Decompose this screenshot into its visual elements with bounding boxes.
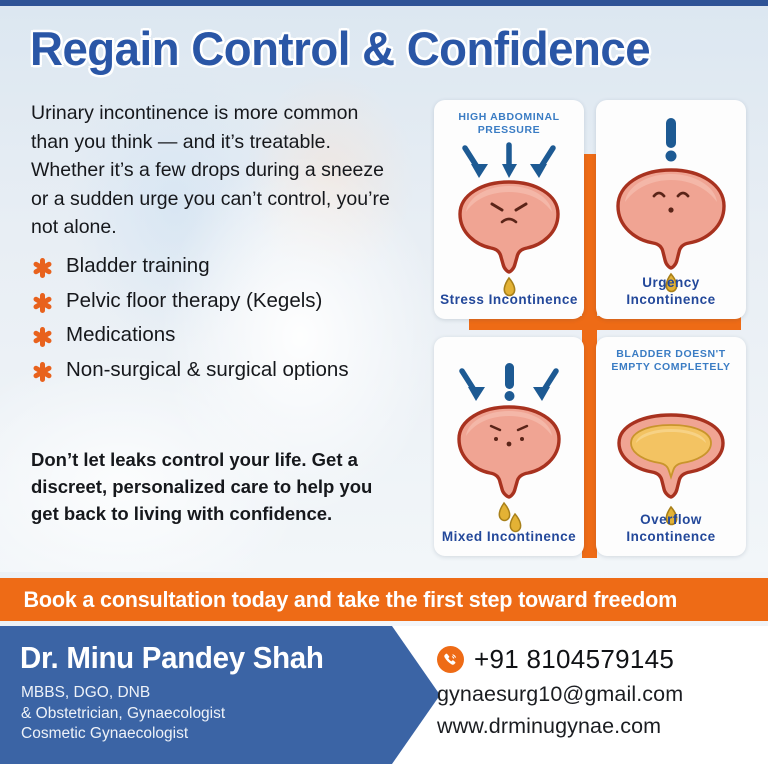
email-address[interactable]: gynaesurg10@gmail.com: [437, 678, 683, 710]
outro-paragraph: Don’t let leaks control your life. Get a…: [31, 446, 381, 527]
list-item: Non-surgical & surgical options: [31, 356, 431, 384]
list-item: Pelvic floor therapy (Kegels): [31, 287, 431, 315]
top-accent-strip: [0, 0, 768, 6]
card-stress-incontinence: HIGH ABDOMINAL PRESSURE Stress Incontine…: [434, 100, 584, 319]
bladder-two-arrows-exclamation-two-drops-icon: [434, 337, 584, 556]
website-url[interactable]: www.drminugynae.com: [437, 710, 683, 742]
list-item-label: Bladder training: [66, 252, 210, 280]
contact-block: +91 8104579145 gynaesurg10@gmail.com www…: [437, 644, 683, 742]
card-overflow-incontinence: BLADDER DOESN'T EMPTY COMPLETELY Overflo…: [596, 337, 746, 556]
list-item-label: Pelvic floor therapy (Kegels): [66, 287, 322, 315]
treatment-list: Bladder training Pelvic floor therapy (K…: [31, 252, 431, 390]
doctor-name: Dr. Minu Pandey Shah: [20, 640, 324, 676]
poster-canvas: Regain Control & Confidence Urinary inco…: [0, 0, 768, 764]
asterisk-star-icon: [31, 326, 53, 348]
card-urgency-incontinence: Urgency Incontinence: [596, 100, 746, 319]
doctor-credentials: MBBS, DGO, DNB & Obstetrician, Gynaecolo…: [21, 683, 225, 745]
phone-number: +91 8104579145: [474, 644, 674, 675]
divider-vertical: [582, 154, 597, 558]
card-label: Urgency Incontinence: [600, 274, 742, 308]
list-item-label: Non-surgical & surgical options: [66, 356, 349, 384]
card-label: Stress Incontinence: [438, 291, 580, 308]
bladder-sad-face-three-arrows-one-drop-icon: [434, 100, 584, 319]
phone-call-icon: [437, 646, 464, 673]
footer: Dr. Minu Pandey Shah MBBS, DGO, DNB & Ob…: [0, 626, 768, 764]
cta-banner[interactable]: Book a consultation today and take the f…: [0, 578, 768, 621]
asterisk-star-icon: [31, 292, 53, 314]
asterisk-star-icon: [31, 361, 53, 383]
asterisk-star-icon: [31, 257, 53, 279]
card-label: Mixed Incontinence: [438, 528, 580, 545]
card-mixed-incontinence: Mixed Incontinence: [434, 337, 584, 556]
list-item: Bladder training: [31, 252, 431, 280]
page-title: Regain Control & Confidence: [30, 22, 728, 76]
intro-paragraph: Urinary incontinence is more common than…: [31, 99, 401, 242]
card-label: Overflow Incontinence: [600, 511, 742, 545]
phone-row[interactable]: +91 8104579145: [437, 644, 683, 675]
cta-text: Book a consultation today and take the f…: [0, 587, 677, 613]
list-item: Medications: [31, 321, 431, 349]
incontinence-type-cards: HIGH ABDOMINAL PRESSURE Stress Incontine…: [430, 96, 750, 560]
list-item-label: Medications: [66, 321, 175, 349]
